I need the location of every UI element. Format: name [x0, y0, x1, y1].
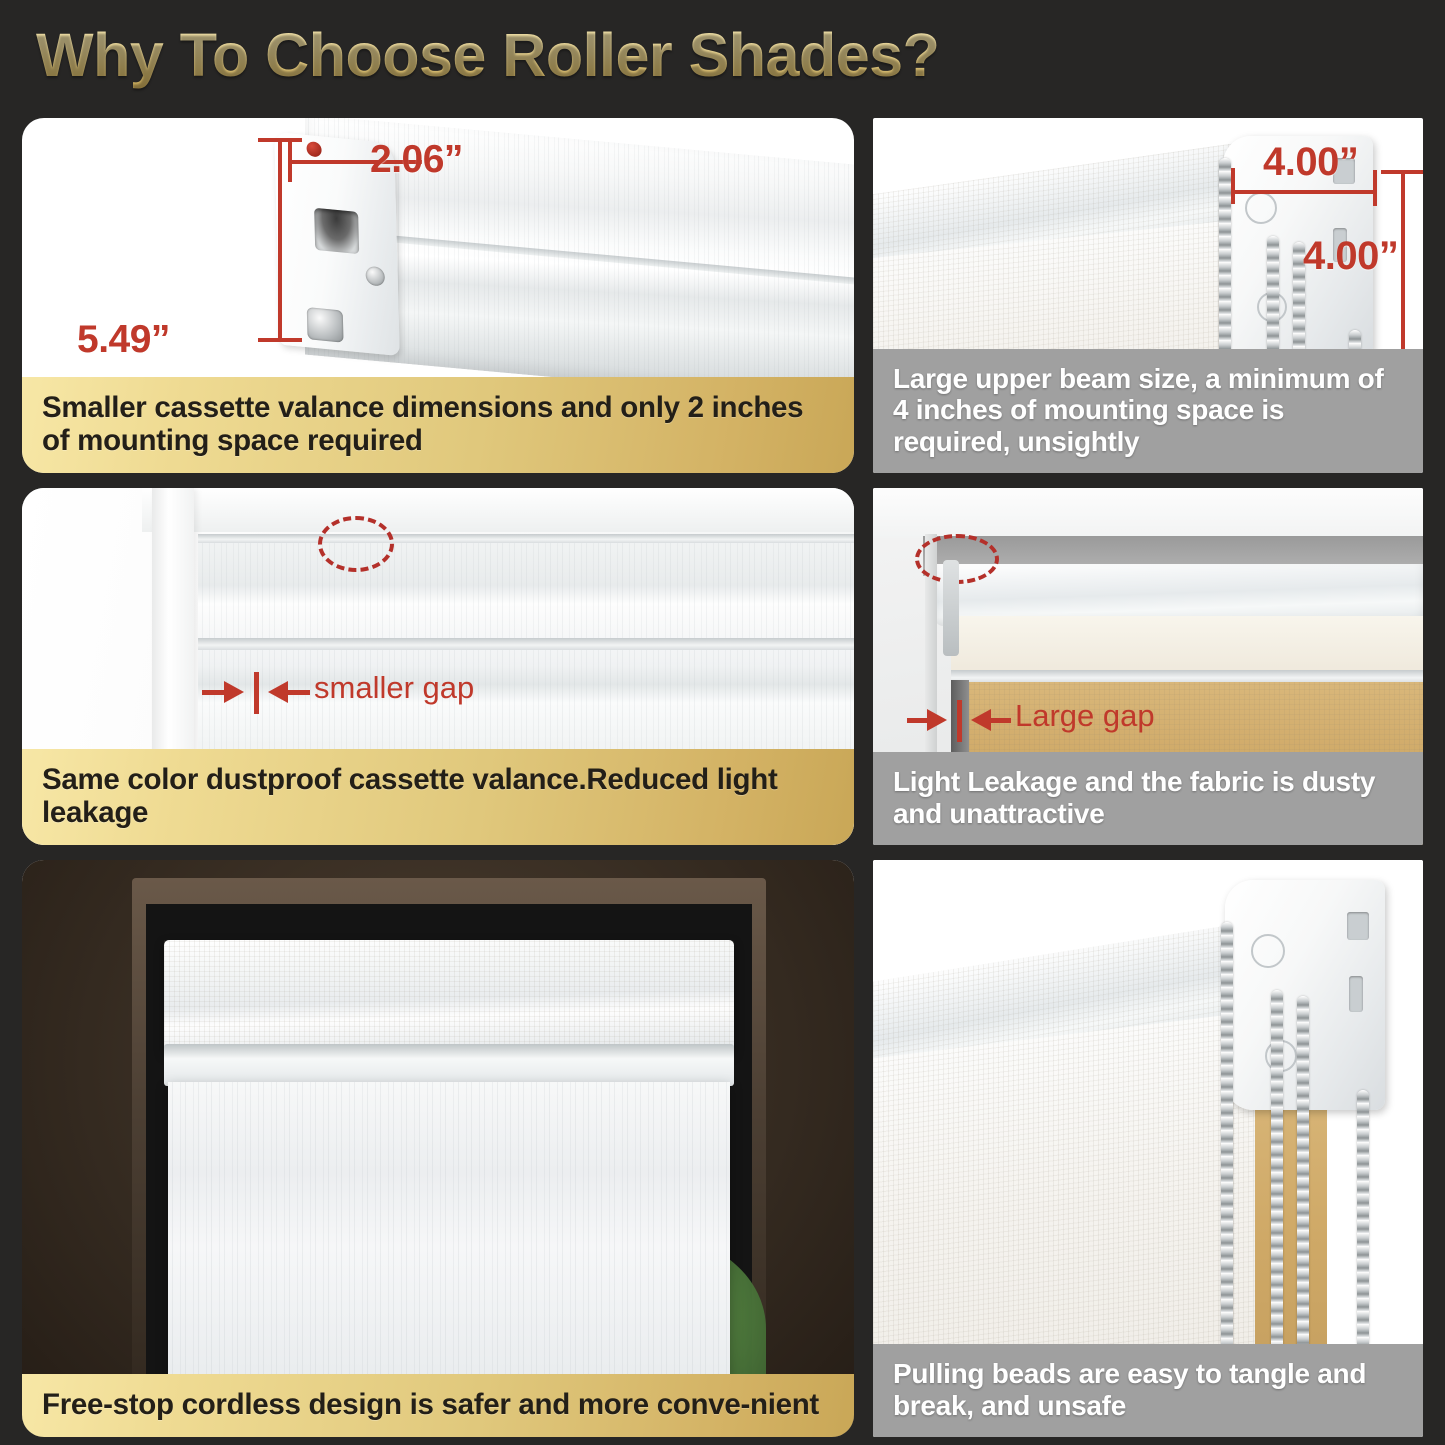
- header-bar: Why To Choose Roller Shades?: [0, 0, 1445, 110]
- valance-lip: [164, 1044, 734, 1086]
- panel-caption: Smaller cassette valance dimensions and …: [22, 377, 854, 473]
- width-dimension-label: 4.00”: [1263, 140, 1358, 185]
- height-dimension-tick-top: [1381, 170, 1423, 174]
- arrow-right-icon: [927, 709, 947, 731]
- bracket-ring-detail: [1245, 192, 1277, 224]
- panel-dustproof-valance: smaller gap Same color dustproof cassett…: [22, 488, 854, 845]
- bracket-notch: [1349, 976, 1363, 1012]
- gap-label: Large gap: [1015, 698, 1155, 734]
- bead-chain: [1357, 1090, 1369, 1382]
- height-dimension-tick-top: [258, 138, 302, 142]
- arrow-left-icon: [268, 681, 288, 703]
- window-recess: [132, 878, 766, 1437]
- screw-icon: [365, 266, 384, 287]
- screw-icon: [307, 307, 344, 343]
- height-dimension-line: [1401, 172, 1405, 358]
- panel-caption: Light Leakage and the fabric is dusty an…: [873, 752, 1423, 845]
- red-pin-marker: [306, 141, 321, 157]
- arrow-stem: [202, 690, 226, 695]
- width-dimension-tick-left: [288, 140, 292, 182]
- chain-slot-icon: [314, 208, 359, 254]
- valance-bottom-rail: [198, 638, 854, 650]
- panel-caption: Free-stop cordless design is safer and m…: [22, 1374, 854, 1437]
- page-title: Why To Choose Roller Shades?: [36, 20, 939, 90]
- width-dimension-tick-right: [1373, 170, 1377, 206]
- panel-large-upper-beam: 4.00” 4.00” Large upper beam size, a min…: [873, 118, 1423, 473]
- panel-smaller-cassette: 2.06” 5.49” Smaller cassette valance dim…: [22, 118, 854, 473]
- bracket-notch: [1347, 912, 1369, 940]
- panel-light-leakage: Large gap Light Leakage and the fabric i…: [873, 488, 1423, 845]
- panel-caption: Large upper beam size, a minimum of 4 in…: [873, 349, 1423, 473]
- valance-top-rail: [198, 534, 854, 543]
- arrow-stem: [288, 690, 310, 695]
- gap-label: smaller gap: [314, 670, 474, 706]
- panel-pulling-beads: Pulling beads are easy to tangle and bre…: [873, 860, 1423, 1437]
- panel-cordless-design: Free-stop cordless design is safer and m…: [22, 860, 854, 1437]
- panel-caption: Same color dustproof cassette valance.Re…: [22, 749, 854, 845]
- gap-bar: [957, 700, 962, 742]
- arrow-left-icon: [971, 709, 991, 731]
- bead-chain: [1221, 922, 1233, 1372]
- panel-caption: Pulling beads are easy to tangle and bre…: [873, 1344, 1423, 1437]
- height-dimension-tick-bottom: [258, 338, 302, 342]
- valance-face: [951, 616, 1423, 674]
- highlight-ellipse: [318, 516, 394, 572]
- comparison-grid: 2.06” 5.49” Smaller cassette valance dim…: [0, 110, 1445, 1445]
- bead-chain: [1271, 990, 1283, 1380]
- bracket-ring-detail: [1251, 934, 1285, 968]
- window-inner: [146, 904, 752, 1437]
- height-dimension-label: 4.00”: [1303, 234, 1398, 279]
- ceiling-strip: [873, 488, 1423, 538]
- bracket-clip: [943, 560, 959, 656]
- photo-cordless-window-scene: [22, 860, 854, 1437]
- width-dimension-line: [1233, 190, 1375, 194]
- height-dimension-line: [278, 140, 282, 342]
- arrow-stem: [907, 718, 929, 723]
- cassette-valance: [164, 940, 734, 1052]
- width-dimension-tick-left: [1231, 168, 1235, 204]
- window-frame-top: [142, 488, 854, 532]
- arrow-right-icon: [224, 681, 244, 703]
- arrow-stem: [991, 718, 1011, 723]
- width-dimension-label: 2.06”: [370, 138, 463, 182]
- bead-chain: [1297, 996, 1309, 1382]
- gap-bar: [254, 672, 259, 714]
- height-dimension-label: 5.49”: [77, 318, 170, 362]
- white-roller-shade: [168, 1082, 730, 1382]
